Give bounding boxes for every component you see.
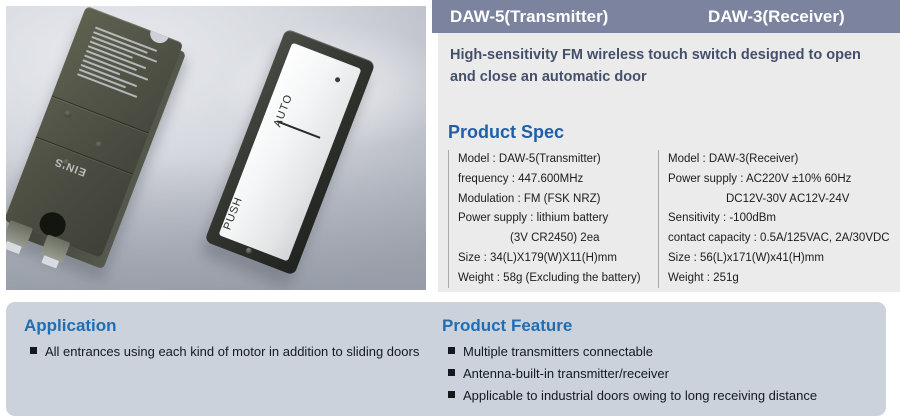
product-description: High-sensitivity FM wireless touch switc… [450, 44, 886, 89]
list-item: Multiple transmitters connectable [442, 342, 872, 362]
square-bullet-icon [448, 391, 455, 398]
title-receiver: DAW-3(Receiver) [708, 7, 845, 27]
spec-column-transmitter: Model : DAW-5(Transmitter) frequency : 4… [448, 150, 654, 288]
spec-size: Size : 34(L)X179(W)X11(H)mm [458, 249, 654, 269]
application-item-text: All entrances using each kind of motor i… [45, 342, 419, 362]
feature-item-text: Antenna-built-in transmitter/receiver [463, 364, 669, 384]
spec-model: Model : DAW-3(Receiver) [668, 150, 886, 170]
top-section: EIN'S AUTO PUSH DAW-5(Transmitter) [0, 0, 900, 292]
spec-power-supply-cont: (3V CR2450) 2ea [458, 229, 654, 249]
spec-column-receiver: Model : DAW-3(Receiver) Power supply : A… [658, 150, 886, 288]
spec-frequency: frequency : 447.600MHz [458, 170, 654, 190]
square-bullet-icon [30, 347, 37, 354]
product-photo: EIN'S AUTO PUSH [6, 6, 426, 290]
application-section: Application All entrances using each kin… [24, 316, 424, 364]
spec-power-supply: Power supply : lithium battery [458, 209, 654, 229]
product-feature-heading: Product Feature [442, 316, 872, 336]
list-item: Antenna-built-in transmitter/receiver [442, 364, 872, 384]
spec-sensitivity: Sensitivity : -100dBm [668, 209, 886, 229]
product-spec-heading: Product Spec [448, 122, 564, 143]
application-heading: Application [24, 316, 424, 336]
receiver-screw [94, 141, 103, 150]
title-transmitter: DAW-5(Transmitter) [450, 7, 608, 27]
spec-weight: Weight : 58g (Excluding the battery) [458, 269, 654, 289]
transmitter-push-label: PUSH [221, 195, 245, 232]
transmitter-screw [245, 247, 253, 255]
product-feature-section: Product Feature Multiple transmitters co… [442, 316, 872, 407]
spec-columns: Model : DAW-5(Transmitter) frequency : 4… [448, 150, 888, 288]
feature-item-text: Applicable to industrial doors owing to … [463, 386, 817, 406]
spec-contact-capacity: contact capacity : 0.5A/125VAC, 2A/30VDC [668, 229, 886, 249]
spec-modulation: Modulation : FM (FSK NRZ) [458, 190, 654, 210]
led-indicator-icon [334, 77, 340, 83]
panel-left-edge [432, 0, 438, 292]
receiver-brand-label: EIN'S [53, 155, 88, 178]
spec-size: Size : 56(L)x171(W)x41(H)mm [668, 249, 886, 269]
spec-power-supply-cont: DC12V-30V AC12V-24V [668, 190, 886, 210]
transmitter-auto-label: AUTO [272, 93, 296, 129]
list-item: All entrances using each kind of motor i… [24, 342, 424, 362]
list-item: Applicable to industrial doors owing to … [442, 386, 872, 406]
spec-power-supply: Power supply : AC220V ±10% 60Hz [668, 170, 886, 190]
bottom-panel: Application All entrances using each kin… [6, 302, 886, 416]
square-bullet-icon [448, 347, 455, 354]
receiver-screw [63, 109, 72, 118]
square-bullet-icon [448, 369, 455, 376]
spec-model: Model : DAW-5(Transmitter) [458, 150, 654, 170]
receiver-notch [148, 22, 172, 46]
feature-item-text: Multiple transmitters connectable [463, 342, 653, 362]
title-bar: DAW-5(Transmitter) DAW-3(Receiver) [432, 0, 900, 33]
spec-weight: Weight : 251g [668, 269, 886, 289]
info-panel: DAW-5(Transmitter) DAW-3(Receiver) High-… [432, 0, 900, 292]
